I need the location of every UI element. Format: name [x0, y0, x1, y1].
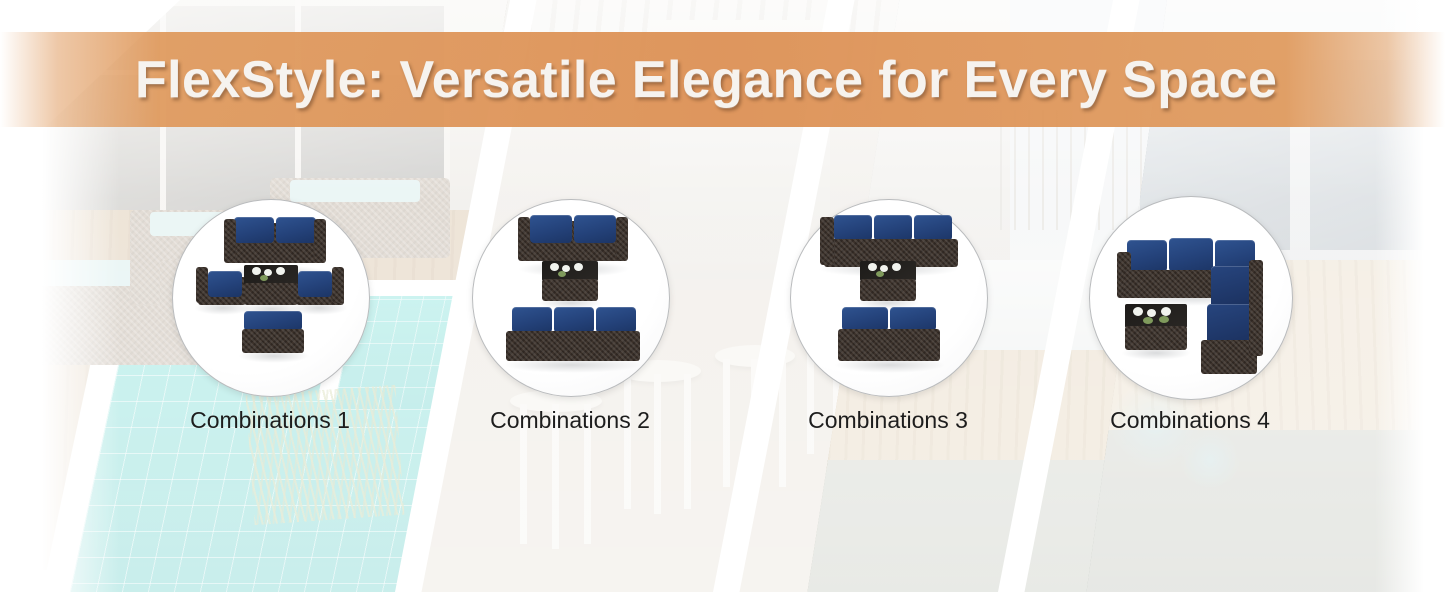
- combination-4[interactable]: Combinations 4: [1089, 196, 1291, 398]
- combination-3[interactable]: Combinations 3: [790, 199, 986, 395]
- combination-label: Combinations 4: [1032, 407, 1348, 434]
- promo-banner: FlexStyle: Versatile Elegance for Every …: [0, 0, 1445, 592]
- combination-2[interactable]: Combinations 2: [472, 199, 668, 395]
- page-title: FlexStyle: Versatile Elegance for Every …: [135, 50, 1277, 110]
- combination-label: Combinations 2: [412, 407, 728, 434]
- combination-label: Combinations 1: [112, 407, 428, 434]
- combination-1[interactable]: Combinations 1: [172, 199, 368, 395]
- combination-label: Combinations 3: [730, 407, 1046, 434]
- title-band: FlexStyle: Versatile Elegance for Every …: [0, 32, 1445, 127]
